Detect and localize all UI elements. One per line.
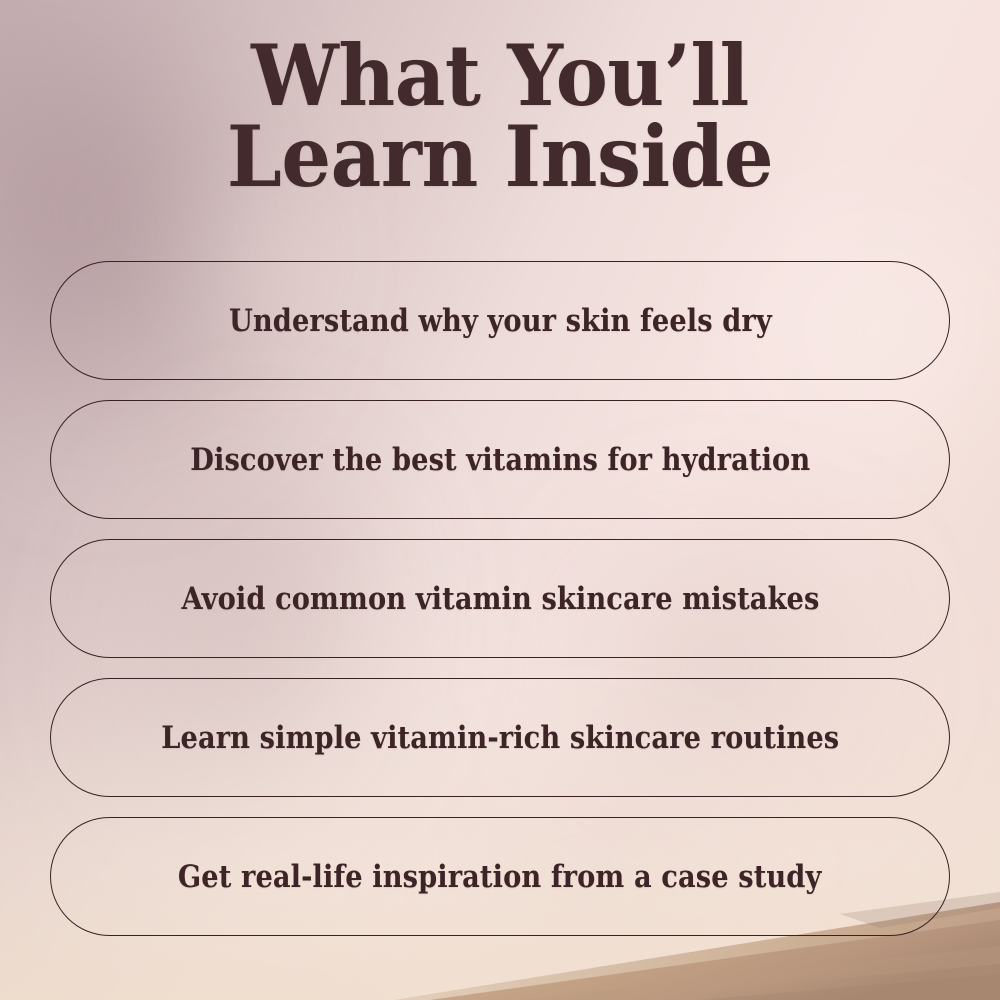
list-item[interactable]: Get real-life inspiration from a case st… (50, 817, 950, 936)
page-title-line-1: What You’ll (35, 36, 965, 117)
list-item[interactable]: Learn simple vitamin-rich skincare routi… (50, 678, 950, 797)
list-item-label: Understand why your skin feels dry (229, 303, 772, 339)
page-title-line-2: Learn Inside (35, 117, 965, 198)
list-item-label: Get real-life inspiration from a case st… (178, 859, 822, 895)
list-item[interactable]: Avoid common vitamin skincare mistakes (50, 539, 950, 658)
learning-points-list: Understand why your skin feels dry Disco… (50, 261, 950, 936)
promo-graphic: What You’ll Learn Inside Understand why … (0, 0, 1000, 1000)
list-item[interactable]: Understand why your skin feels dry (50, 261, 950, 380)
page-title: What You’ll Learn Inside (35, 36, 965, 197)
list-item-label: Avoid common vitamin skincare mistakes (181, 581, 819, 617)
list-item-label: Learn simple vitamin-rich skincare routi… (161, 720, 839, 756)
list-item-label: Discover the best vitamins for hydration (190, 442, 810, 478)
list-item[interactable]: Discover the best vitamins for hydration (50, 400, 950, 519)
